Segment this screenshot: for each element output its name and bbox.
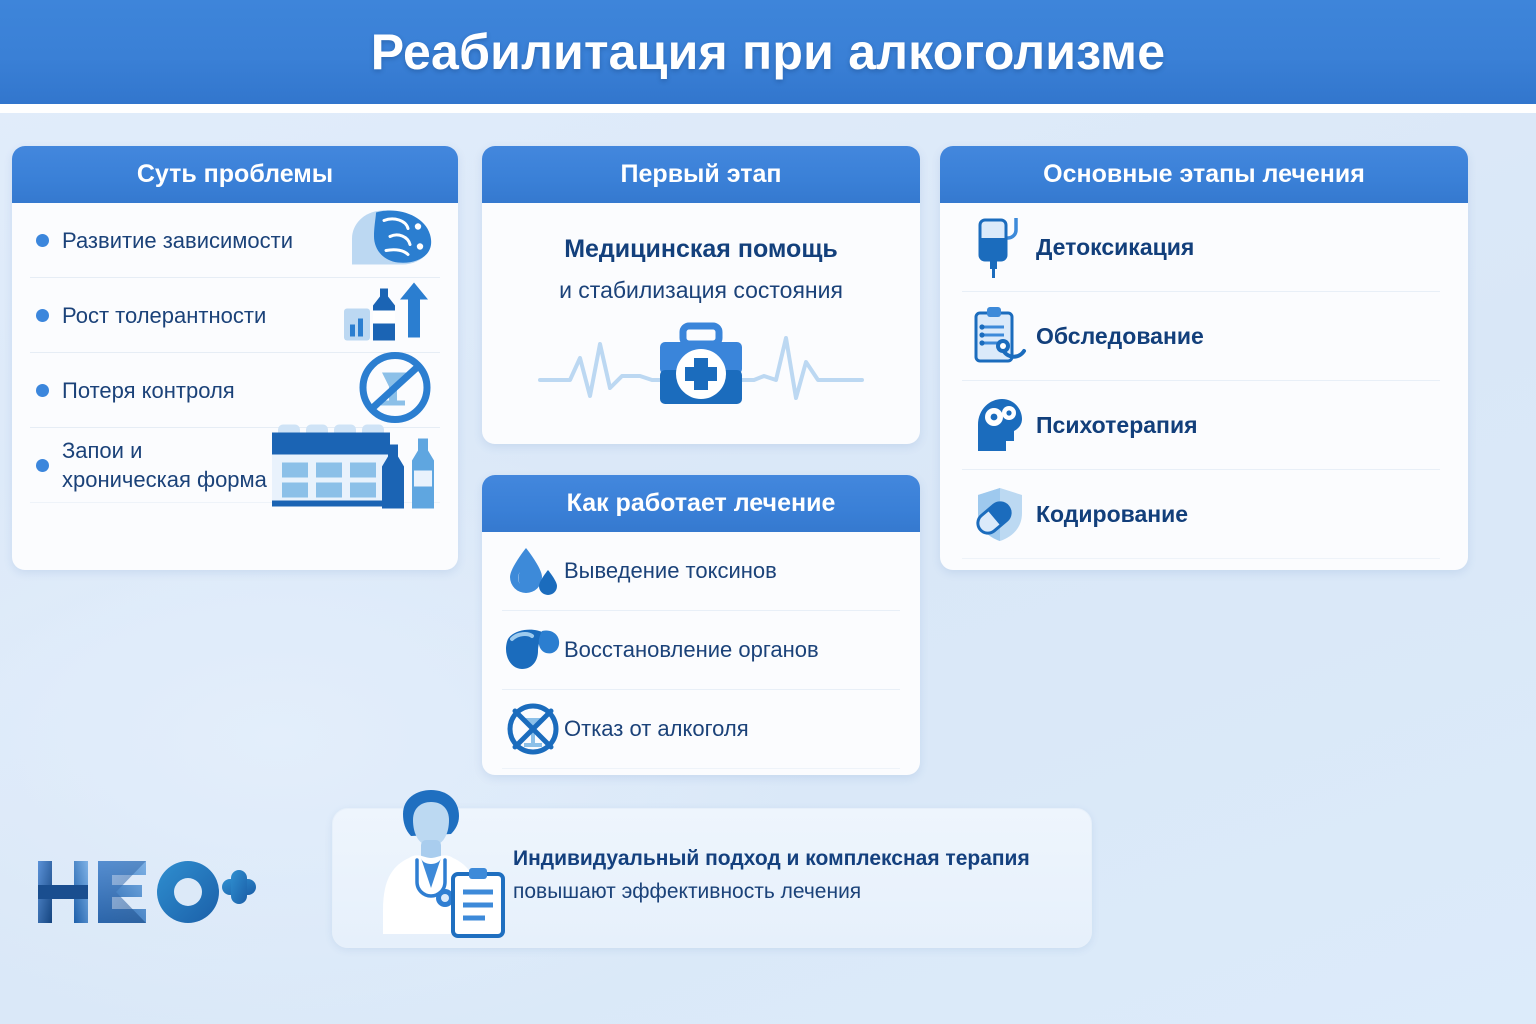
list-item[interactable]: Рост толерантности xyxy=(30,278,440,353)
card-how-treatment-works-header: Как работает лечение xyxy=(482,475,920,532)
list-item-label: Кодирование xyxy=(1036,501,1188,528)
list-item-label: Психотерапия xyxy=(1036,412,1198,439)
header-divider xyxy=(0,104,1536,113)
card-first-stage-body: Медицинская помощь и стабилизация состоя… xyxy=(482,235,920,418)
list-item-label-line1: Запои и xyxy=(62,436,267,465)
card-problem-title: Суть проблемы xyxy=(137,160,333,189)
bottle-chart-arrow-icon xyxy=(342,279,438,352)
list-item[interactable]: Обследование xyxy=(962,292,1440,381)
footer-banner-text: Индивидуальный подход и комплексная тера… xyxy=(513,847,1030,904)
list-item-label: Выведение токсинов xyxy=(564,558,777,584)
list-item-label: Детоксикация xyxy=(1036,234,1194,261)
calendar-bottles-icon xyxy=(268,415,444,516)
first-stage-line1: Медицинская помощь xyxy=(500,235,902,264)
list-item-label: Рост толерантности xyxy=(62,301,266,330)
iv-drip-icon xyxy=(962,214,1036,280)
card-first-stage: Первый этап Медицинская помощь и стабили… xyxy=(482,146,920,444)
list-item[interactable]: Кодирование xyxy=(962,470,1440,559)
card-problem: Суть проблемы Развитие зависимости Рост … xyxy=(12,146,458,570)
card-how-treatment-works-body: Выведение токсинов Восстановление органо… xyxy=(482,532,920,769)
list-item-label: Развитие зависимости xyxy=(62,226,293,255)
list-item-label: Обследование xyxy=(1036,323,1204,350)
first-aid-kit-ecg-icon xyxy=(500,318,902,418)
list-item[interactable]: Психотерапия xyxy=(962,381,1440,470)
card-first-stage-title: Первый этап xyxy=(621,160,782,189)
card-main-stages-header: Основные этапы лечения xyxy=(940,146,1468,203)
liver-icon xyxy=(502,625,564,675)
list-item[interactable]: Детоксикация xyxy=(962,203,1440,292)
card-main-stages-title: Основные этапы лечения xyxy=(1043,160,1365,189)
bullet-dot xyxy=(36,234,49,247)
footer-banner-line2: повышают эффективность лечения xyxy=(513,880,1030,904)
no-alcohol-circle-icon xyxy=(502,701,564,757)
card-how-treatment-works-title: Как работает лечение xyxy=(567,489,836,518)
list-item[interactable]: Отказ от алкоголя xyxy=(502,690,900,769)
list-item-label-line2: хроническая форма xyxy=(62,465,267,494)
card-first-stage-header: Первый этап xyxy=(482,146,920,203)
first-stage-line2: и стабилизация состояния xyxy=(500,277,902,304)
card-main-stages-body: Детоксикация Обследование xyxy=(940,203,1468,559)
card-problem-body: Развитие зависимости Рост толерантности xyxy=(12,203,458,503)
head-gears-icon xyxy=(962,395,1036,455)
pill-shield-icon xyxy=(962,484,1036,544)
water-drop-icon xyxy=(502,544,564,598)
list-item-label: Отказ от алкоголя xyxy=(564,716,749,742)
brain-icon xyxy=(346,205,438,276)
list-item-label: Запои и хроническая форма xyxy=(62,436,267,494)
list-item[interactable]: Запои и хроническая форма xyxy=(30,428,440,503)
bullet-dot xyxy=(36,384,49,397)
doctor-clipboard-icon xyxy=(355,786,515,951)
bullet-dot xyxy=(36,309,49,322)
card-how-treatment-works: Как работает лечение Выведение токсинов xyxy=(482,475,920,775)
bullet-dot xyxy=(36,459,49,472)
page-header: Реабилитация при алкоголизме xyxy=(0,0,1536,104)
list-item[interactable]: Выведение токсинов xyxy=(502,532,900,611)
footer-banner-line1: Индивидуальный подход и комплексная тера… xyxy=(513,847,1030,871)
card-problem-header: Суть проблемы xyxy=(12,146,458,203)
clipboard-stethoscope-icon xyxy=(962,305,1036,367)
neo-plus-logo xyxy=(36,855,256,934)
card-main-stages: Основные этапы лечения Детоксикация xyxy=(940,146,1468,570)
page-title: Реабилитация при алкоголизме xyxy=(371,23,1166,81)
list-item-label: Потеря контроля xyxy=(62,376,235,405)
list-item[interactable]: Развитие зависимости xyxy=(30,203,440,278)
list-item-label: Восстановление органов xyxy=(564,637,819,663)
list-item[interactable]: Восстановление органов xyxy=(502,611,900,690)
